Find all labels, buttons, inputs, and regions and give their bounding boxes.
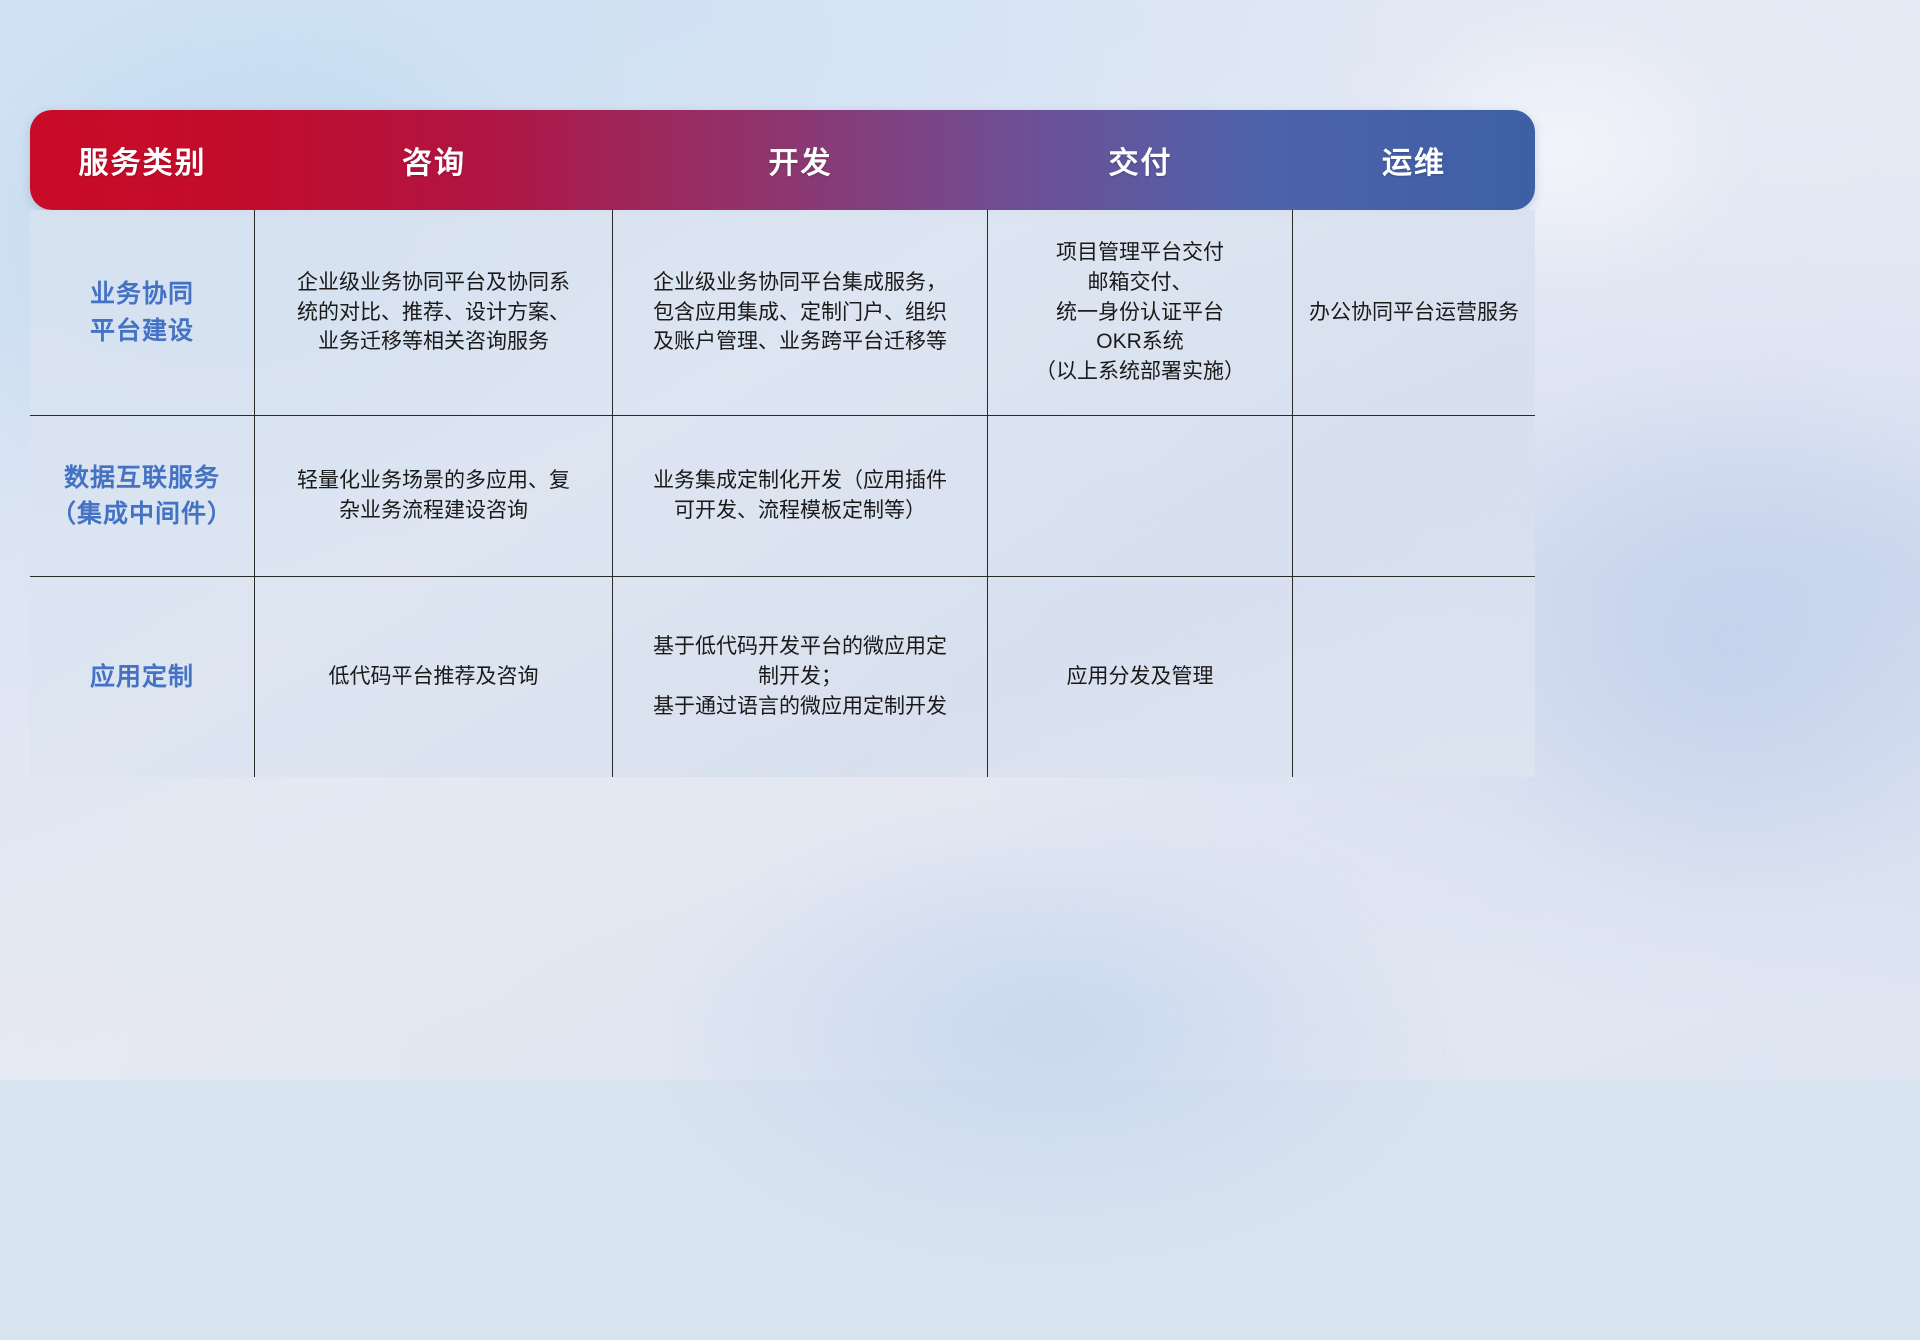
- column-header-operations: 运维: [1293, 110, 1535, 210]
- column-header-development: 开发: [613, 110, 988, 210]
- cell-consulting-row-0: 企业级业务协同平台及协同系 统的对比、推荐、设计方案、 业务迁移等相关咨询服务: [255, 210, 613, 415]
- background-glow-bottom: [500, 720, 1600, 1340]
- cell-delivery-row-0: 项目管理平台交付 邮箱交付、 统一身份认证平台 OKR系统 （以上系统部署实施）: [988, 210, 1293, 415]
- cell-development-row-1: 业务集成定制化开发（应用插件 可开发、流程模板定制等）: [613, 416, 988, 576]
- cell-delivery-row-1: [988, 416, 1293, 576]
- column-header-consulting: 咨询: [255, 110, 613, 210]
- cell-operations-row-0: 办公协同平台运营服务: [1293, 210, 1535, 415]
- service-matrix-table: 服务类别 咨询 开发 交付 运维 业务协同 平台建设 企业级业务协同平台及协同系…: [30, 110, 1535, 777]
- row-label-business-collaboration: 业务协同 平台建设: [30, 210, 255, 415]
- cell-development-row-2: 基于低代码开发平台的微应用定 制开发； 基于通过语言的微应用定制开发: [613, 577, 988, 777]
- table-body: 业务协同 平台建设 企业级业务协同平台及协同系 统的对比、推荐、设计方案、 业务…: [30, 210, 1535, 777]
- table-row: 数据互联服务 （集成中间件） 轻量化业务场景的多应用、复 杂业务流程建设咨询 业…: [30, 415, 1535, 576]
- cell-development-row-0: 企业级业务协同平台集成服务， 包含应用集成、定制门户、组织 及账户管理、业务跨平…: [613, 210, 988, 415]
- cell-consulting-row-2: 低代码平台推荐及咨询: [255, 577, 613, 777]
- cell-consulting-row-1: 轻量化业务场景的多应用、复 杂业务流程建设咨询: [255, 416, 613, 576]
- table-row: 应用定制 低代码平台推荐及咨询 基于低代码开发平台的微应用定 制开发； 基于通过…: [30, 576, 1535, 777]
- row-label-application-customization: 应用定制: [30, 577, 255, 777]
- cell-operations-row-1: [1293, 416, 1535, 576]
- row-label-data-integration: 数据互联服务 （集成中间件）: [30, 416, 255, 576]
- table-row: 业务协同 平台建设 企业级业务协同平台及协同系 统的对比、推荐、设计方案、 业务…: [30, 210, 1535, 415]
- column-header-delivery: 交付: [988, 110, 1293, 210]
- cell-delivery-row-2: 应用分发及管理: [988, 577, 1293, 777]
- column-header-category: 服务类别: [30, 110, 255, 210]
- cell-operations-row-2: [1293, 577, 1535, 777]
- table-header-row: 服务类别 咨询 开发 交付 运维: [30, 110, 1535, 210]
